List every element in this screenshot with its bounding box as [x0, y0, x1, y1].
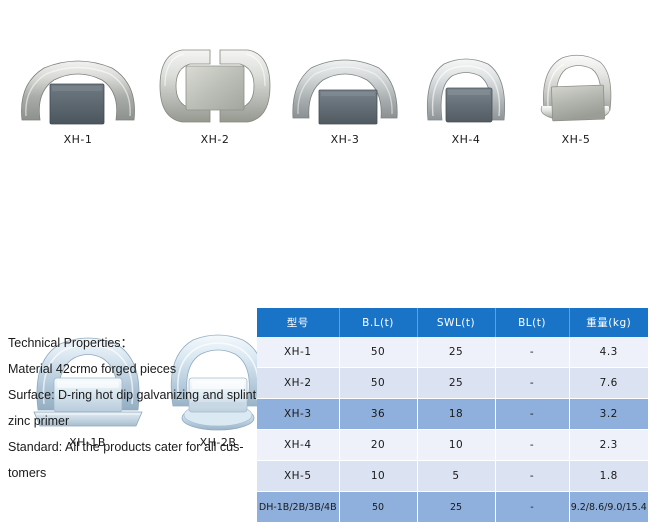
product-gallery: XH-1 [0, 0, 650, 300]
cell-bl: 50 [339, 368, 417, 399]
product-row-1: XH-1 [0, 0, 650, 160]
cell-model: XH-1 [257, 337, 339, 368]
technical-line: zinc primer [8, 408, 256, 434]
product-cell-xh-2[interactable]: XH-2 [150, 42, 280, 146]
d-ring-lashing-ring-icon [14, 50, 142, 128]
column-header-bl2: BL(t) [495, 308, 569, 337]
cell-swl: 25 [417, 368, 495, 399]
d-ring-narrow-icon [532, 48, 620, 128]
cell-bl2: - [495, 430, 569, 461]
cell-swl: 5 [417, 461, 495, 492]
cell-model: XH-2 [257, 368, 339, 399]
cell-bl: 50 [339, 337, 417, 368]
product-cell-xh-5[interactable]: XH-5 [530, 48, 622, 146]
technical-line: Material 42crmo forged pieces [8, 356, 256, 382]
cell-swl: 25 [417, 337, 495, 368]
technical-properties-block: Technical Properties： Material 42crmo fo… [8, 330, 256, 486]
cell-bl2: - [495, 461, 569, 492]
table-row: XH-5 10 5 - 1.8 [257, 461, 648, 492]
product-label: XH-2 [150, 133, 280, 146]
table-row: XH-4 20 10 - 2.3 [257, 430, 648, 461]
product-label: XH-1 [8, 133, 148, 146]
cell-weight: 1.8 [569, 461, 648, 492]
cell-swl: 25 [417, 492, 495, 523]
cell-swl: 10 [417, 430, 495, 461]
column-header-bl: B.L(t) [339, 308, 417, 337]
d-ring-flat-plate-icon [289, 52, 401, 128]
cell-bl: 36 [339, 399, 417, 430]
technical-line: Surface: D-ring hot dip galvanizing and … [8, 382, 256, 408]
cell-bl2: - [495, 399, 569, 430]
table-row: XH-2 50 25 - 7.6 [257, 368, 648, 399]
cell-bl2: - [495, 492, 569, 523]
table-row: XH-1 50 25 - 4.3 [257, 337, 648, 368]
d-ring-small-icon [422, 52, 510, 128]
product-label: XH-4 [420, 133, 512, 146]
cell-weight: 7.6 [569, 368, 648, 399]
cell-weight: 3.2 [569, 399, 648, 430]
cell-bl: 20 [339, 430, 417, 461]
table-header-row: 型号 B.L(t) SWL(t) BL(t) 重量(kg) [257, 308, 648, 337]
technical-line: Standard: All the products cater for all… [8, 434, 256, 460]
column-header-model: 型号 [257, 308, 339, 337]
product-label: XH-3 [285, 133, 405, 146]
specification-table: 型号 B.L(t) SWL(t) BL(t) 重量(kg) XH-1 50 25… [257, 308, 648, 523]
cell-model: XH-4 [257, 430, 339, 461]
cell-weight: 4.3 [569, 337, 648, 368]
cell-bl: 10 [339, 461, 417, 492]
product-row-2: XH-1B [0, 160, 650, 300]
cell-swl: 18 [417, 399, 495, 430]
product-cell-xh-1[interactable]: XH-1 [8, 50, 148, 146]
cell-model: XH-5 [257, 461, 339, 492]
cell-model: DH-1B/2B/3B/4B [257, 492, 339, 523]
double-d-ring-icon [156, 42, 274, 128]
product-cell-xh-3[interactable]: XH-3 [285, 52, 405, 146]
product-label: XH-5 [530, 133, 622, 146]
cell-model: XH-3 [257, 399, 339, 430]
cell-bl: 50 [339, 492, 417, 523]
cell-weight: 9.2/8.6/9.0/15.4 [569, 492, 648, 523]
cell-bl2: - [495, 337, 569, 368]
cell-bl2: - [495, 368, 569, 399]
column-header-weight: 重量(kg) [569, 308, 648, 337]
table-row: DH-1B/2B/3B/4B 50 25 - 9.2/8.6/9.0/15.4 [257, 492, 648, 523]
column-header-swl: SWL(t) [417, 308, 495, 337]
cell-weight: 2.3 [569, 430, 648, 461]
technical-line: tomers [8, 460, 256, 486]
table-row: XH-3 36 18 - 3.2 [257, 399, 648, 430]
technical-line: Technical Properties： [8, 330, 256, 356]
product-cell-xh-4[interactable]: XH-4 [420, 52, 512, 146]
